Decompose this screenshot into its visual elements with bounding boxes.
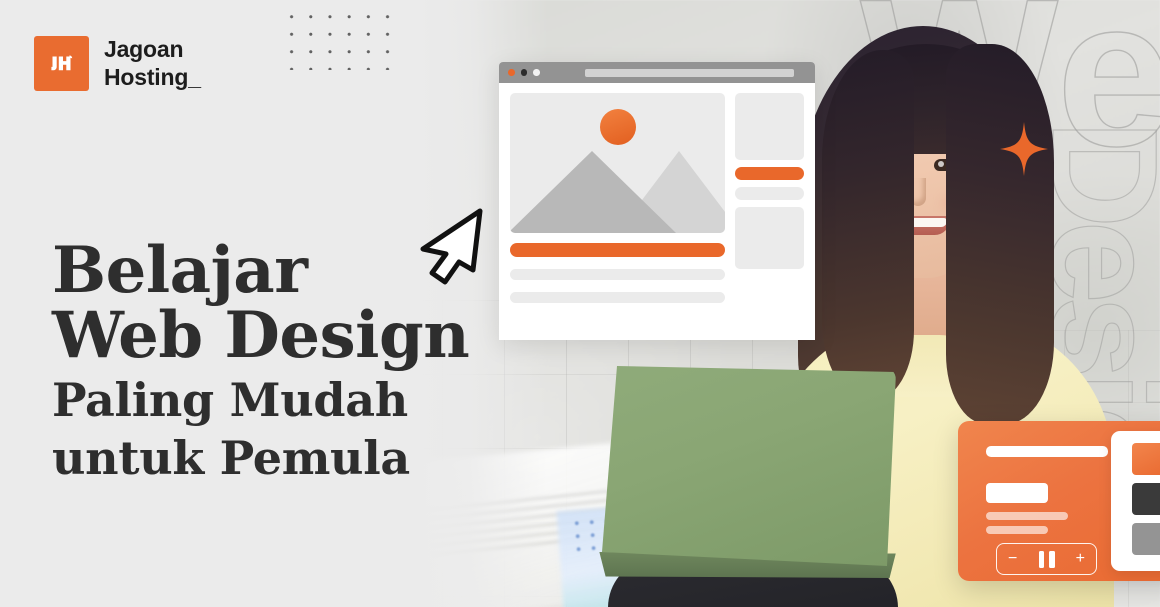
browser-content [499, 83, 815, 340]
address-bar[interactable] [585, 69, 795, 77]
orange-bar[interactable] [735, 167, 804, 180]
content-sidebar-column [735, 93, 804, 340]
mountain-shape-icon-front [510, 151, 676, 233]
card-line-1 [986, 512, 1068, 520]
pause-icon[interactable] [1039, 551, 1055, 568]
sun-circle-icon [600, 109, 636, 145]
stepper-plus-button[interactable]: + [1076, 551, 1085, 567]
close-dot-orange[interactable] [508, 69, 515, 76]
dot-grid-icon [282, 8, 400, 70]
content-main-column [510, 93, 725, 340]
brand-name-line2: Hosting_ [104, 64, 201, 90]
hair-strand-right [946, 44, 1054, 424]
grey-bar [735, 187, 804, 200]
swatch-dark[interactable] [1132, 483, 1160, 515]
headline-line-1: Belajar [52, 238, 469, 303]
image-placeholder-icon [510, 93, 725, 233]
headline-line-2: Web Design [52, 303, 469, 368]
quantity-stepper[interactable]: − + [996, 543, 1097, 575]
color-swatch-panel[interactable] [1111, 431, 1160, 571]
browser-title-bar [499, 62, 815, 83]
cursor-arrow-icon [415, 207, 487, 290]
brand-name-line1: Jagoan [104, 36, 183, 62]
page-title: Belajar Web Design Paling Mudah untuk Pe… [52, 238, 469, 484]
grey-block-top [735, 93, 804, 160]
orange-cta-bar[interactable] [510, 243, 725, 257]
headline-line-4: untuk Pemula [52, 433, 469, 485]
maximize-dot-light[interactable] [533, 69, 540, 76]
laptop-lid [596, 366, 896, 566]
swatch-orange[interactable] [1132, 443, 1160, 475]
text-line-2 [510, 292, 725, 303]
card-line-2 [986, 526, 1048, 534]
jh-monogram-icon [34, 36, 89, 91]
card-title-bar [986, 446, 1108, 457]
brand-name: Jagoan Hosting_ [104, 36, 201, 90]
headline-line-3: Paling Mudah [52, 375, 469, 427]
four-point-star-icon [1000, 122, 1048, 181]
grey-block-bottom [735, 207, 804, 269]
minimize-dot-dark[interactable] [521, 69, 528, 76]
card-input-field[interactable] [986, 483, 1048, 503]
browser-window-mockup[interactable] [499, 62, 815, 340]
hair-strand-left [822, 50, 914, 400]
laptop-icon [596, 366, 910, 607]
swatch-grey[interactable] [1132, 523, 1160, 555]
brand-logo[interactable]: Jagoan Hosting_ [34, 36, 201, 91]
poster-canvas: Web Design [0, 0, 1160, 607]
text-line-1 [510, 269, 725, 280]
stepper-minus-button[interactable]: − [1008, 551, 1017, 567]
eye-highlight-right [938, 161, 944, 167]
